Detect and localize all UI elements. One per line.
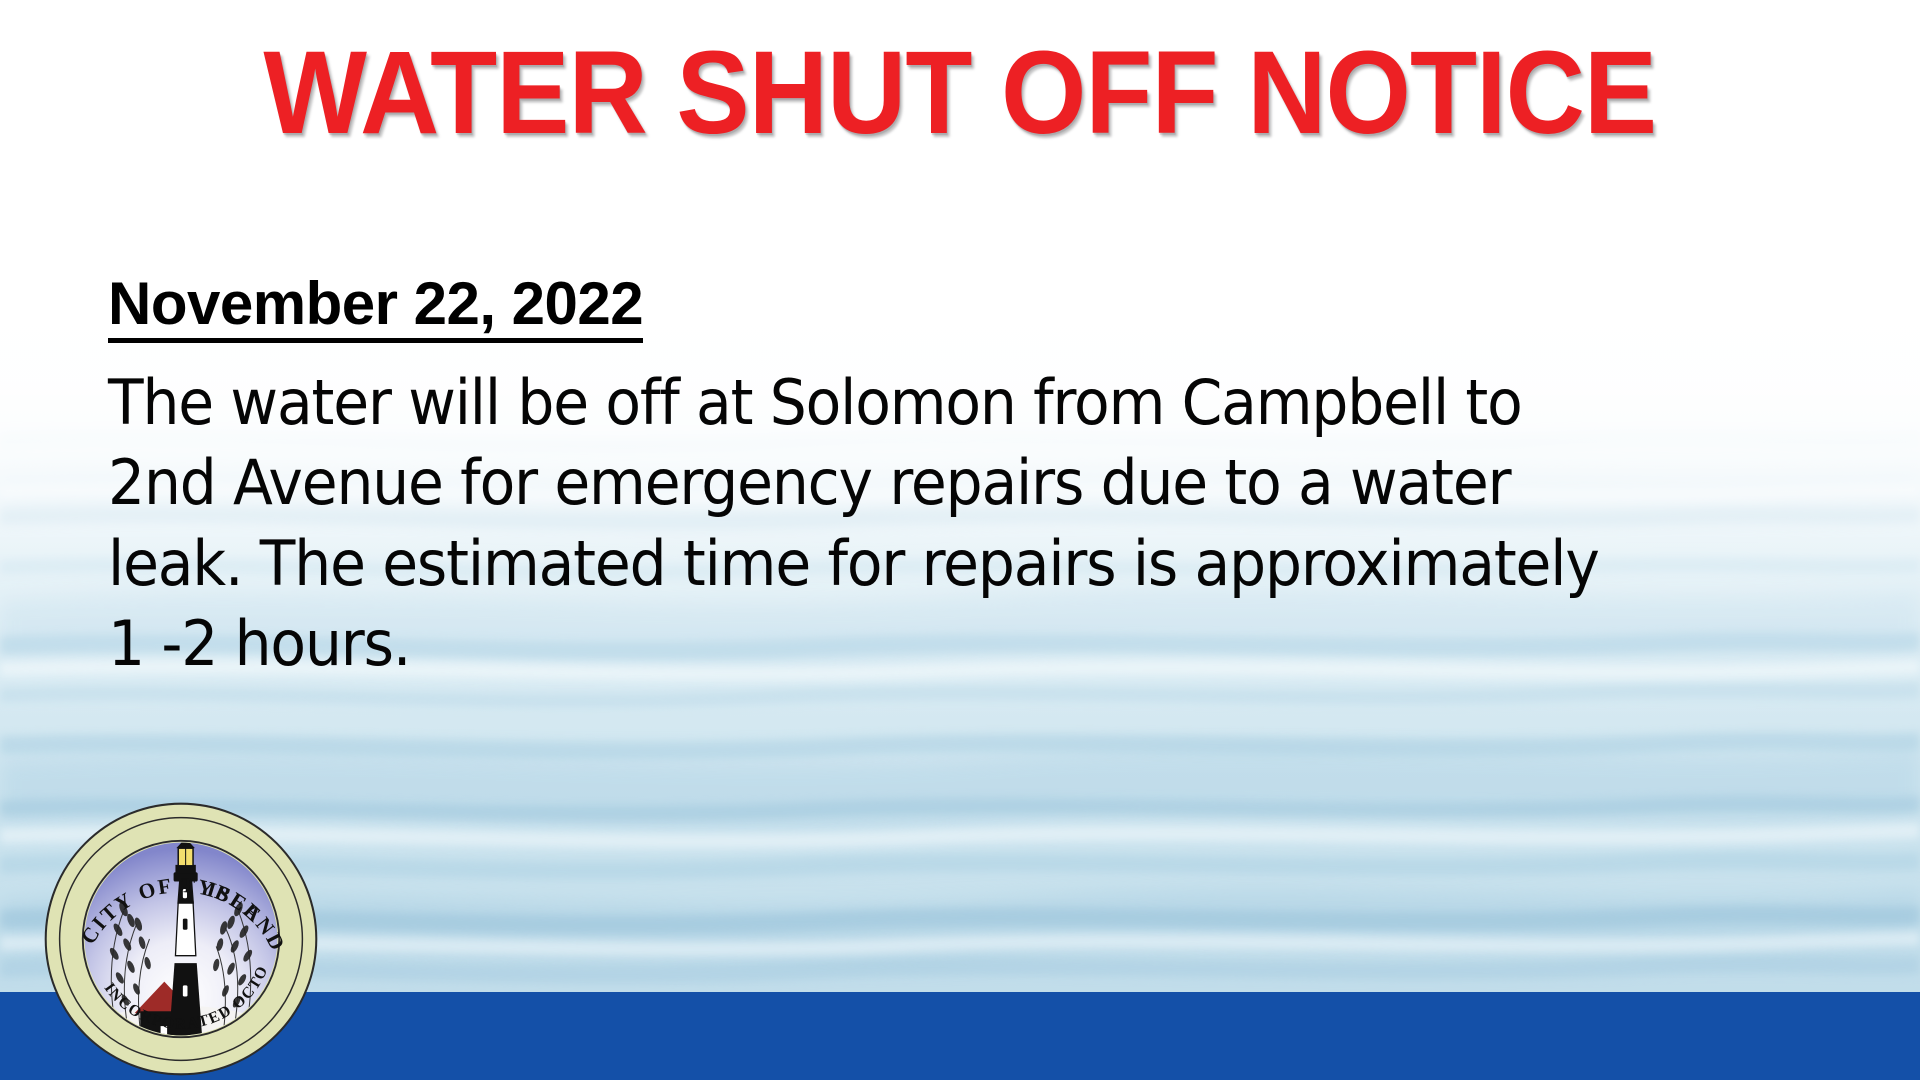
water-shut-off-notice-graphic: WATER SHUT OFF NOTICE November 22, 2022 … [0,0,1920,1080]
notice-line: 1 -2 hours. [108,604,1791,685]
headline-container: WATER SHUT OFF NOTICE [0,34,1920,152]
page-title: WATER SHUT OFF NOTICE [264,34,1657,152]
notice-message: The water will be off at Solomon from Ca… [108,363,1791,685]
notice-line: leak. The estimated time for repairs is … [108,524,1791,605]
notice-line: The water will be off at Solomon from Ca… [108,363,1791,444]
city-seal: CITY OF TYBEE ISLAND GA INCORPORATED OCT… [42,800,320,1078]
notice-body: November 22, 2022 The water will be off … [108,272,1808,685]
notice-date: November 22, 2022 [108,272,643,343]
notice-line: 2nd Avenue for emergency repairs due to … [108,443,1791,524]
